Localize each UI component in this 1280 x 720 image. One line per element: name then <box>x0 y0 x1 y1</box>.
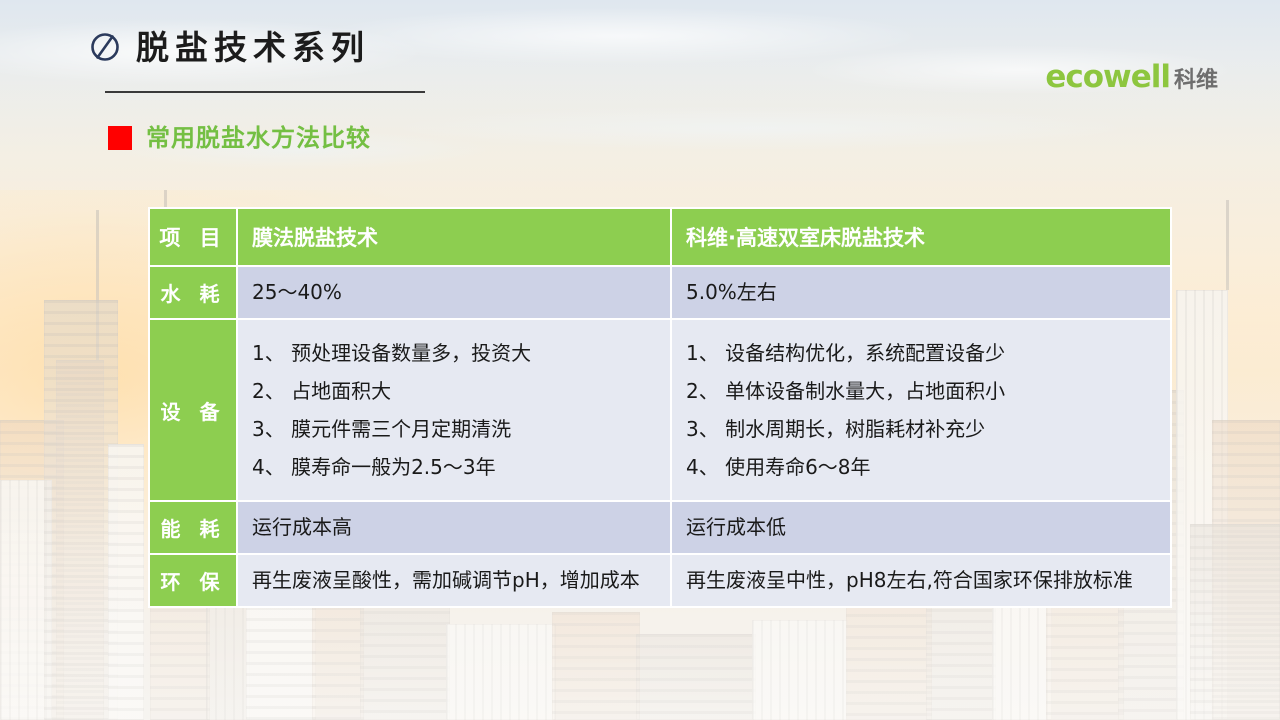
slide-canvas: 脱盐技术系列 ecowell 科维 常用脱盐水方法比较 项 目 膜法脱盐技术 科… <box>0 0 1280 720</box>
table-header-col2: 科维·高速双室床脱盐技术 <box>671 208 1171 266</box>
page-title: 脱盐技术系列 <box>136 31 370 64</box>
comparison-table-container: 项 目 膜法脱盐技术 科维·高速双室床脱盐技术 水 耗 25～40% 5.0%左… <box>148 207 1170 608</box>
table-header-col1: 膜法脱盐技术 <box>237 208 671 266</box>
table-row: 环 保 再生废液呈酸性，需加碱调节pH，增加成本 再生废液呈中性，pH8左右,符… <box>149 554 1171 607</box>
table-row: 能 耗 运行成本高 运行成本低 <box>149 501 1171 554</box>
cell-water-membrane: 25～40% <box>237 266 671 319</box>
red-square-bullet-icon <box>108 126 132 150</box>
equipment-ecowell-list: 1、 设备结构优化，系统配置设备少 2、 单体设备制水量大，占地面积小 3、 制… <box>686 334 1156 486</box>
cell-environment-membrane: 再生废液呈酸性，需加碱调节pH，增加成本 <box>237 554 671 607</box>
cell-equipment-ecowell: 1、 设备结构优化，系统配置设备少 2、 单体设备制水量大，占地面积小 3、 制… <box>671 319 1171 501</box>
list-item: 2、 单体设备制水量大，占地面积小 <box>686 372 1156 410</box>
list-item: 1、 预处理设备数量多，投资大 <box>252 334 656 372</box>
cell-water-ecowell: 5.0%左右 <box>671 266 1171 319</box>
cell-energy-membrane: 运行成本高 <box>237 501 671 554</box>
list-item: 4、 使用寿命6～8年 <box>686 448 1156 486</box>
title-divider <box>105 91 425 93</box>
list-item: 3、 膜元件需三个月定期清洗 <box>252 410 656 448</box>
phi-diameter-icon <box>88 30 122 64</box>
table-row: 水 耗 25～40% 5.0%左右 <box>149 266 1171 319</box>
row-label-equipment: 设 备 <box>149 319 237 501</box>
list-item: 3、 制水周期长，树脂耗材补充少 <box>686 410 1156 448</box>
list-item: 1、 设备结构优化，系统配置设备少 <box>686 334 1156 372</box>
section-heading-label: 常用脱盐水方法比较 <box>146 126 371 150</box>
cell-energy-ecowell: 运行成本低 <box>671 501 1171 554</box>
logo-chinese-name: 科维 <box>1174 70 1218 92</box>
slide-header: 脱盐技术系列 <box>88 30 370 64</box>
section-heading: 常用脱盐水方法比较 <box>108 126 371 150</box>
list-item: 4、 膜寿命一般为2.5～3年 <box>252 448 656 486</box>
comparison-table: 项 目 膜法脱盐技术 科维·高速双室床脱盐技术 水 耗 25～40% 5.0%左… <box>148 207 1172 608</box>
row-label-environment: 环 保 <box>149 554 237 607</box>
brand-logo: ecowell 科维 <box>1045 62 1218 93</box>
table-header-row: 项 目 膜法脱盐技术 科维·高速双室床脱盐技术 <box>149 208 1171 266</box>
row-label-water: 水 耗 <box>149 266 237 319</box>
list-item: 2、 占地面积大 <box>252 372 656 410</box>
table-row: 设 备 1、 预处理设备数量多，投资大 2、 占地面积大 3、 膜元件需三个月定… <box>149 319 1171 501</box>
equipment-membrane-list: 1、 预处理设备数量多，投资大 2、 占地面积大 3、 膜元件需三个月定期清洗 … <box>252 334 656 486</box>
table-header-category: 项 目 <box>149 208 237 266</box>
logo-wordmark: ecowell <box>1045 62 1170 93</box>
cell-environment-ecowell: 再生废液呈中性，pH8左右,符合国家环保排放标准 <box>671 554 1171 607</box>
cell-equipment-membrane: 1、 预处理设备数量多，投资大 2、 占地面积大 3、 膜元件需三个月定期清洗 … <box>237 319 671 501</box>
row-label-energy: 能 耗 <box>149 501 237 554</box>
